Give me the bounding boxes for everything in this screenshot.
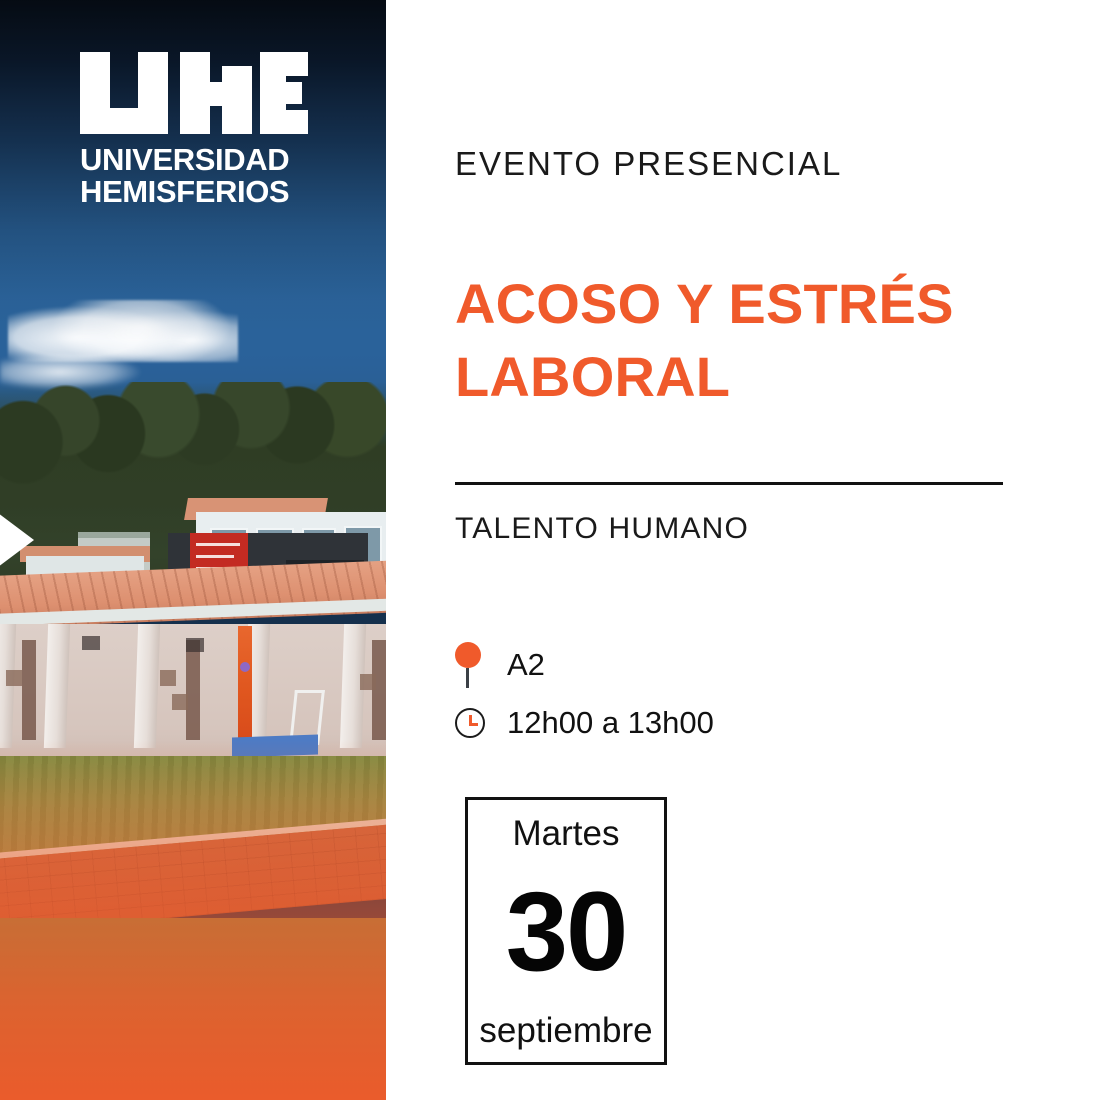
pillar — [134, 624, 160, 748]
wall-panel — [6, 670, 22, 686]
date-day-number: 30 — [506, 880, 627, 983]
event-department: TALENTO HUMANO — [455, 512, 749, 546]
wall-recess — [186, 638, 204, 652]
logo-line-1: UNIVERSIDAD — [80, 144, 308, 176]
meta-row-location: A2 — [455, 636, 975, 694]
meta-row-time: 12h00 a 13h00 — [455, 694, 975, 752]
wall-recess — [82, 636, 100, 650]
door — [22, 640, 36, 740]
door — [186, 640, 200, 740]
university-name: UNIVERSIDAD HEMISFERIOS — [80, 144, 308, 208]
clock-icon — [455, 708, 507, 738]
uhe-logo: UNIVERSIDAD HEMISFERIOS — [80, 52, 308, 208]
event-details-panel: EVENTO PRESENCIAL ACOSO Y ESTRÉS LABORAL… — [455, 0, 1075, 1100]
event-poster: UNIVERSIDAD HEMISFERIOS EVENTO PRESENCIA… — [0, 0, 1100, 1100]
date-month: septiembre — [479, 1013, 652, 1048]
pillar — [0, 624, 16, 748]
door — [372, 640, 386, 740]
vertical-banner — [238, 626, 252, 752]
wall-panel — [172, 694, 188, 710]
event-meta-list: A2 12h00 a 13h00 — [455, 636, 975, 752]
section-divider — [455, 482, 1003, 485]
uhe-logomark-icon — [80, 52, 308, 134]
date-card: Martes 30 septiembre — [465, 797, 667, 1065]
pillar — [44, 624, 70, 748]
date-weekday: Martes — [513, 816, 620, 851]
map-pin-icon — [455, 642, 507, 688]
wall-panel — [360, 674, 376, 690]
orange-gradient-overlay — [0, 740, 386, 1100]
location-value: A2 — [507, 647, 545, 683]
campus-photo-panel: UNIVERSIDAD HEMISFERIOS — [0, 0, 386, 1100]
time-value: 12h00 a 13h00 — [507, 705, 714, 741]
logo-line-2: HEMISFERIOS — [80, 176, 308, 208]
play-triangle-icon — [0, 510, 34, 570]
event-kicker: EVENTO PRESENCIAL — [455, 145, 842, 183]
wall-panel — [160, 670, 176, 686]
event-title: ACOSO Y ESTRÉS LABORAL — [455, 268, 1055, 414]
